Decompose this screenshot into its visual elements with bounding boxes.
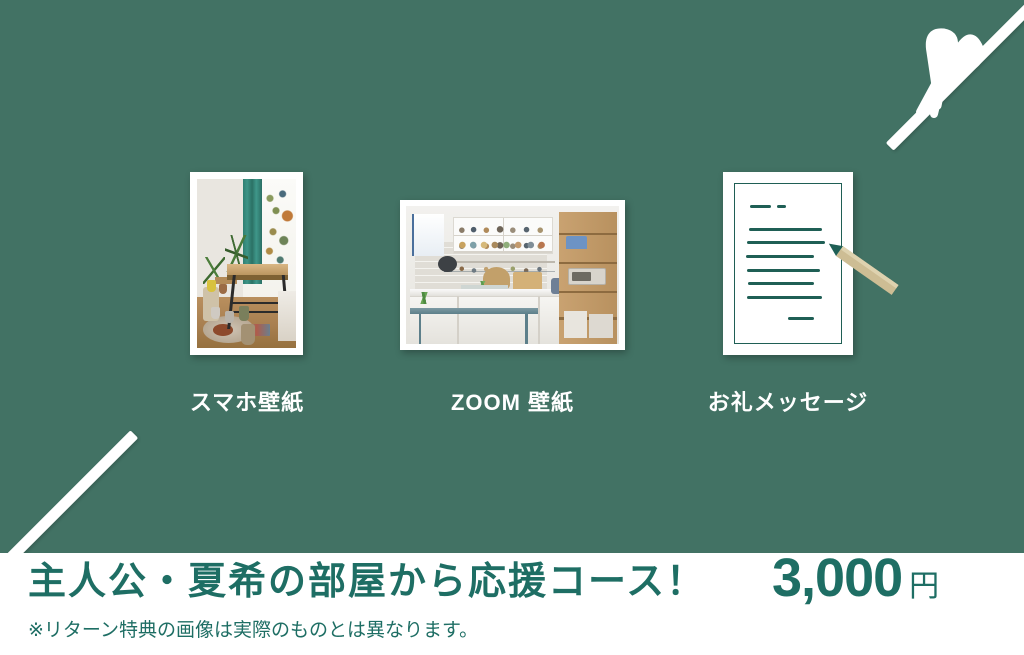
reward-caption-thank-you-message: お礼メッセージ: [700, 385, 876, 417]
price-block: 3,000 円: [772, 551, 939, 605]
price-amount: 3,000: [772, 551, 902, 605]
disclaimer-note: ※リターン特典の画像は実際のものとは異なります。: [28, 615, 478, 642]
reward-caption-smartphone-wallpaper: スマホ壁紙: [186, 385, 308, 417]
handwritten-letter-illustration: [729, 178, 847, 349]
reward-image-card-zoom-wallpaper: [400, 200, 625, 350]
reward-caption-zoom-wallpaper: ZOOM 壁紙: [436, 385, 589, 417]
ribbon-line-icon: [0, 430, 138, 553]
green-background-panel: スマホ壁紙 ZOOM 壁紙 お礼メッセージ: [0, 0, 1024, 553]
ribbon-bow-icon: [890, 10, 1024, 130]
course-title-row: 主人公・夏希の部屋から応援コース！: [28, 561, 706, 605]
room-photo-portrait: [197, 179, 296, 348]
course-title: 主人公・夏希の部屋から応援コース！: [28, 561, 706, 605]
footer-bar: 主人公・夏希の部屋から応援コース！ 3,000 円 ※リターン特典の画像は実際の…: [0, 553, 1024, 655]
price-unit: 円: [909, 572, 939, 602]
reward-card: スマホ壁紙 ZOOM 壁紙 お礼メッセージ 主人公・夏希の部屋から応援コース！ …: [0, 0, 1024, 655]
reward-image-card-thank-you-message: [723, 172, 853, 355]
reward-image-card-smartphone-wallpaper: [190, 172, 303, 355]
kitchen-photo-landscape: [406, 206, 619, 344]
